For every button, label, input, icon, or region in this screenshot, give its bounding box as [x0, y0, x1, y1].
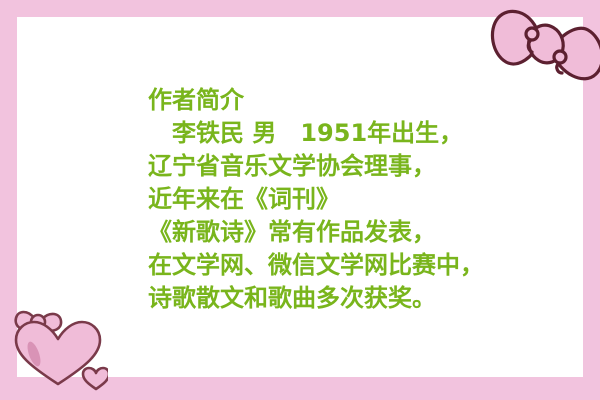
author-bio-text: 作者简介 李铁民 男 1951年出生， 辽宁省音乐文学协会理事， 近年来在《词刊…: [148, 84, 568, 315]
text-line-2: 李铁民 男 1951年出生，: [148, 117, 568, 150]
text-line-7: 诗歌散文和歌曲多次获奖。: [148, 282, 568, 315]
text-line-6: 在文学网、微信文学网比赛中，: [148, 249, 568, 282]
text-line-1: 作者简介: [148, 84, 568, 117]
text-line-5: 《新歌诗》常有作品发表，: [148, 216, 568, 249]
text-line-4: 近年来在《词刊》: [148, 183, 568, 216]
profile-card: 作者简介 李铁民 男 1951年出生， 辽宁省音乐文学协会理事， 近年来在《词刊…: [0, 0, 600, 400]
text-line-3: 辽宁省音乐文学协会理事，: [148, 150, 568, 183]
